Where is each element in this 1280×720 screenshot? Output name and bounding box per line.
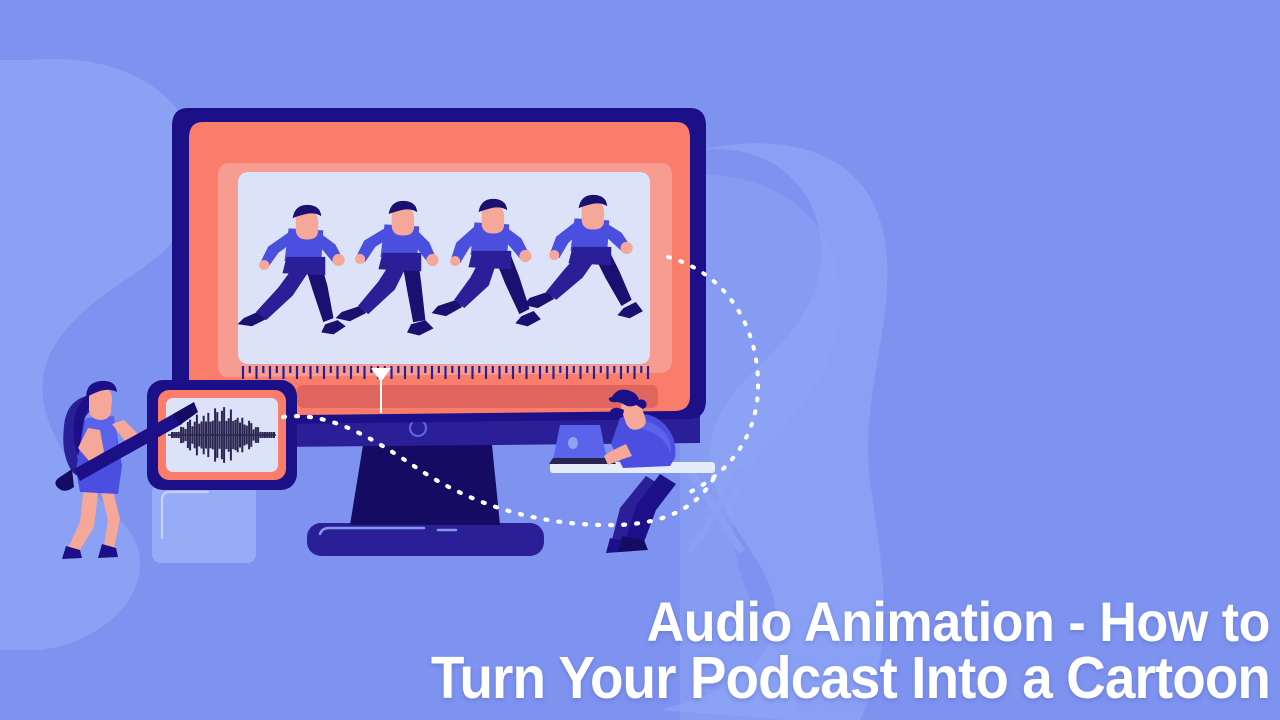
timeline-track[interactable] [297, 385, 658, 408]
monitor-neck [350, 445, 500, 525]
laptop-screen [553, 425, 607, 460]
illustration-canvas [0, 0, 1280, 720]
laptop-logo [568, 437, 578, 449]
background-panel [152, 483, 256, 563]
audio-waveform-tablet [147, 380, 297, 490]
blog-banner: Audio Animation - How to Turn Your Podca… [0, 0, 1280, 720]
